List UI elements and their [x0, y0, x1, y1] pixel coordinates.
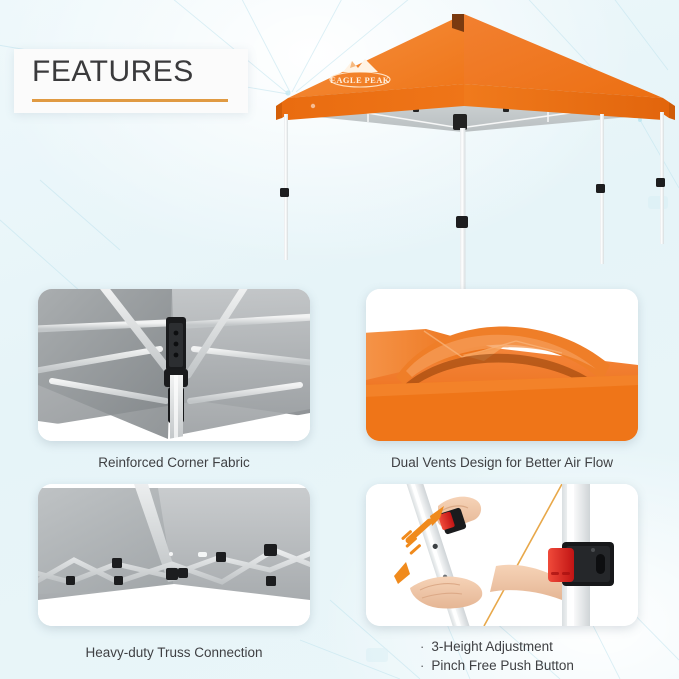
feature-caption-heavy-duty-truss: Heavy-duty Truss Connection	[38, 645, 310, 660]
canopy-truss-lattice-underside-photo	[38, 484, 310, 626]
brand-logo-text: EAGLE PEAK	[330, 75, 390, 85]
feature-caption-height-adjustment: · 3-Height Adjustment · Pinch Free Push …	[420, 637, 670, 675]
caption-text-2: Pinch Free Push Button	[431, 656, 574, 675]
feature-caption-dual-vents: Dual Vents Design for Better Air Flow	[366, 455, 638, 470]
bullet-icon: ·	[420, 656, 424, 675]
title-underline	[32, 99, 228, 102]
leg-push-buttons	[280, 178, 665, 228]
feature-card-height-adjustment	[366, 484, 638, 626]
canopy-legs	[280, 112, 665, 296]
hero-canopy-image: EAGLE PEAK	[248, 6, 679, 306]
caption-line-1: · 3-Height Adjustment	[420, 637, 670, 656]
feature-caption-reinforced-corner: Reinforced Corner Fabric	[38, 455, 310, 470]
canopy-corner-bracket-underside-photo	[38, 289, 310, 441]
canopy-roof-vent-flap-photo	[366, 289, 638, 441]
caption-text-1: 3-Height Adjustment	[431, 637, 553, 656]
feature-card-heavy-duty-truss	[38, 484, 310, 626]
bullet-icon: ·	[420, 637, 424, 656]
hands-adjusting-leg-with-push-button-photo	[366, 484, 638, 626]
features-title-card: FEATURES	[14, 49, 248, 113]
caption-line-2: · Pinch Free Push Button	[420, 656, 670, 675]
feature-card-reinforced-corner	[38, 289, 310, 441]
feature-card-dual-vents	[366, 289, 638, 441]
product-feature-infographic: FEATURES	[0, 0, 679, 679]
page-title: FEATURES	[32, 55, 194, 89]
